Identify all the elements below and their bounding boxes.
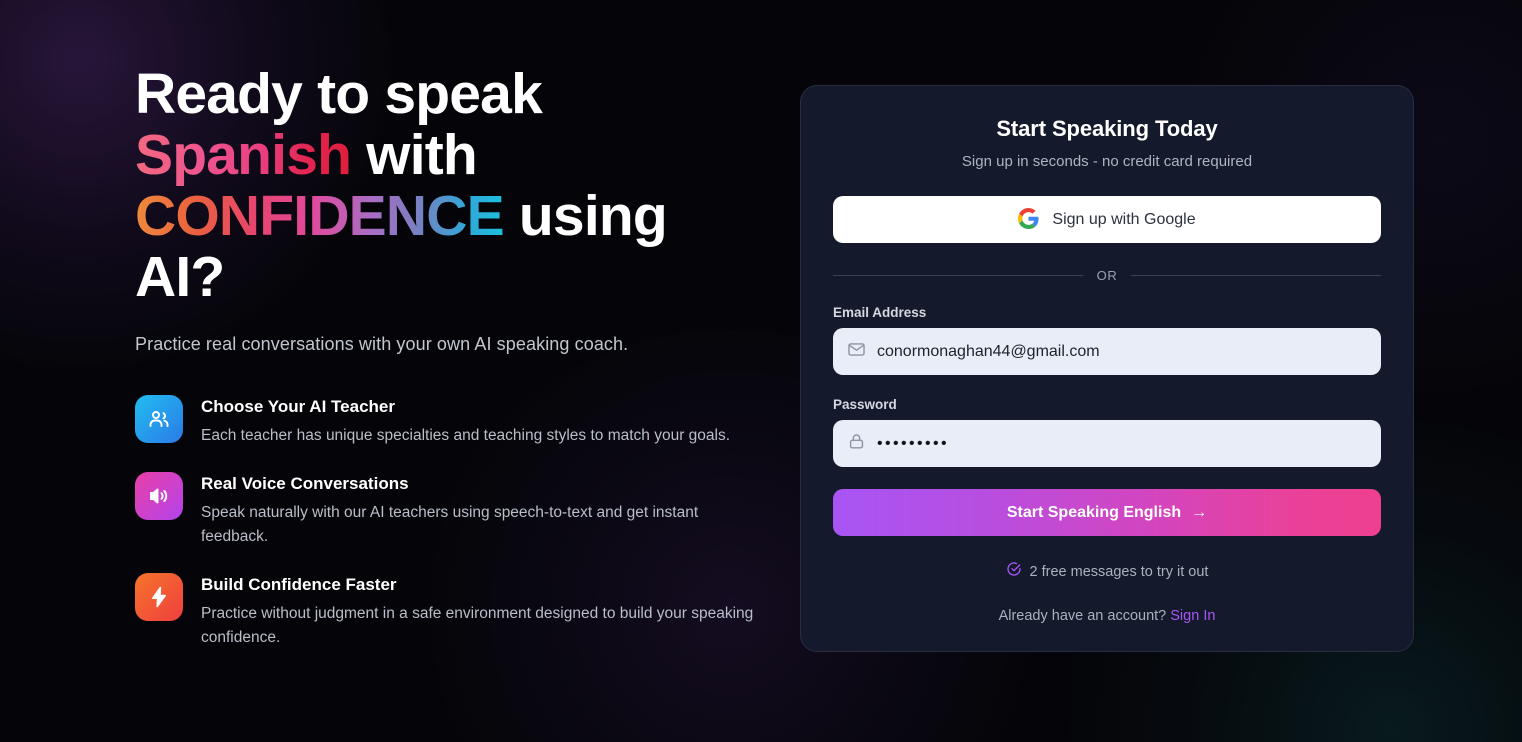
google-button-label: Sign up with Google bbox=[1052, 211, 1195, 229]
start-speaking-button[interactable]: Start Speaking English → bbox=[833, 489, 1381, 536]
headline-line1: Ready to speak bbox=[135, 62, 542, 126]
feature-description: Speak naturally with our AI teachers usi… bbox=[201, 501, 755, 549]
signup-card: Start Speaking Today Sign up in seconds … bbox=[800, 85, 1414, 652]
free-messages-text: 2 free messages to try it out bbox=[1030, 564, 1209, 580]
feature-item-choose-teacher: Choose Your AI Teacher Each teacher has … bbox=[135, 395, 755, 448]
password-field-wrapper[interactable]: ••••••••• bbox=[833, 420, 1381, 467]
arrow-right-icon: → bbox=[1191, 504, 1207, 522]
password-label: Password bbox=[833, 397, 1381, 412]
feature-title: Real Voice Conversations bbox=[201, 473, 755, 495]
free-messages-note: 2 free messages to try it out bbox=[833, 561, 1381, 582]
divider-line-left bbox=[833, 275, 1083, 276]
signup-landing-page: Ready to speakSpanish withCONFIDENCE usi… bbox=[0, 0, 1522, 742]
check-circle-icon bbox=[1006, 561, 1022, 582]
feature-item-voice-conversations: Real Voice Conversations Speak naturally… bbox=[135, 472, 755, 549]
feature-item-build-confidence: Build Confidence Faster Practice without… bbox=[135, 573, 755, 650]
signup-subtitle: Sign up in seconds - no credit card requ… bbox=[833, 153, 1381, 170]
feature-text-block: Real Voice Conversations Speak naturally… bbox=[201, 472, 755, 549]
divider-label: OR bbox=[1097, 268, 1118, 283]
password-input[interactable]: ••••••••• bbox=[877, 435, 1367, 453]
users-icon bbox=[135, 395, 183, 443]
feature-list: Choose Your AI Teacher Each teacher has … bbox=[135, 395, 755, 650]
headline-highlight-language: Spanish bbox=[135, 123, 351, 187]
feature-description: Each teacher has unique specialties and … bbox=[201, 424, 730, 448]
email-label: Email Address bbox=[833, 305, 1381, 320]
existing-account-prompt: Already have an account? bbox=[999, 608, 1167, 624]
headline-with: with bbox=[351, 123, 477, 187]
feature-title: Build Confidence Faster bbox=[201, 574, 755, 596]
feature-text-block: Build Confidence Faster Practice without… bbox=[201, 573, 755, 650]
headline-highlight-confidence: CONFIDENCE bbox=[135, 184, 504, 248]
divider-line-right bbox=[1131, 275, 1381, 276]
signup-title: Start Speaking Today bbox=[833, 116, 1381, 142]
email-field-wrapper[interactable] bbox=[833, 328, 1381, 375]
sign-in-link[interactable]: Sign In bbox=[1170, 608, 1215, 624]
hero-section: Ready to speakSpanish withCONFIDENCE usi… bbox=[135, 64, 755, 674]
envelope-icon bbox=[847, 340, 866, 364]
email-input[interactable] bbox=[877, 343, 1367, 361]
existing-account-row: Already have an account? Sign In bbox=[833, 608, 1381, 624]
google-g-icon bbox=[1018, 208, 1039, 232]
feature-title: Choose Your AI Teacher bbox=[201, 396, 730, 418]
lightning-bolt-icon bbox=[135, 573, 183, 621]
feature-text-block: Choose Your AI Teacher Each teacher has … bbox=[201, 395, 730, 448]
hero-headline: Ready to speakSpanish withCONFIDENCE usi… bbox=[135, 64, 755, 308]
volume-icon bbox=[135, 472, 183, 520]
feature-description: Practice without judgment in a safe envi… bbox=[201, 602, 755, 650]
cta-label: Start Speaking English bbox=[1007, 504, 1181, 522]
divider-or: OR bbox=[833, 268, 1381, 283]
sign-up-with-google-button[interactable]: Sign up with Google bbox=[833, 196, 1381, 243]
lock-icon bbox=[847, 432, 866, 456]
hero-subheadline: Practice real conversations with your ow… bbox=[135, 334, 755, 355]
